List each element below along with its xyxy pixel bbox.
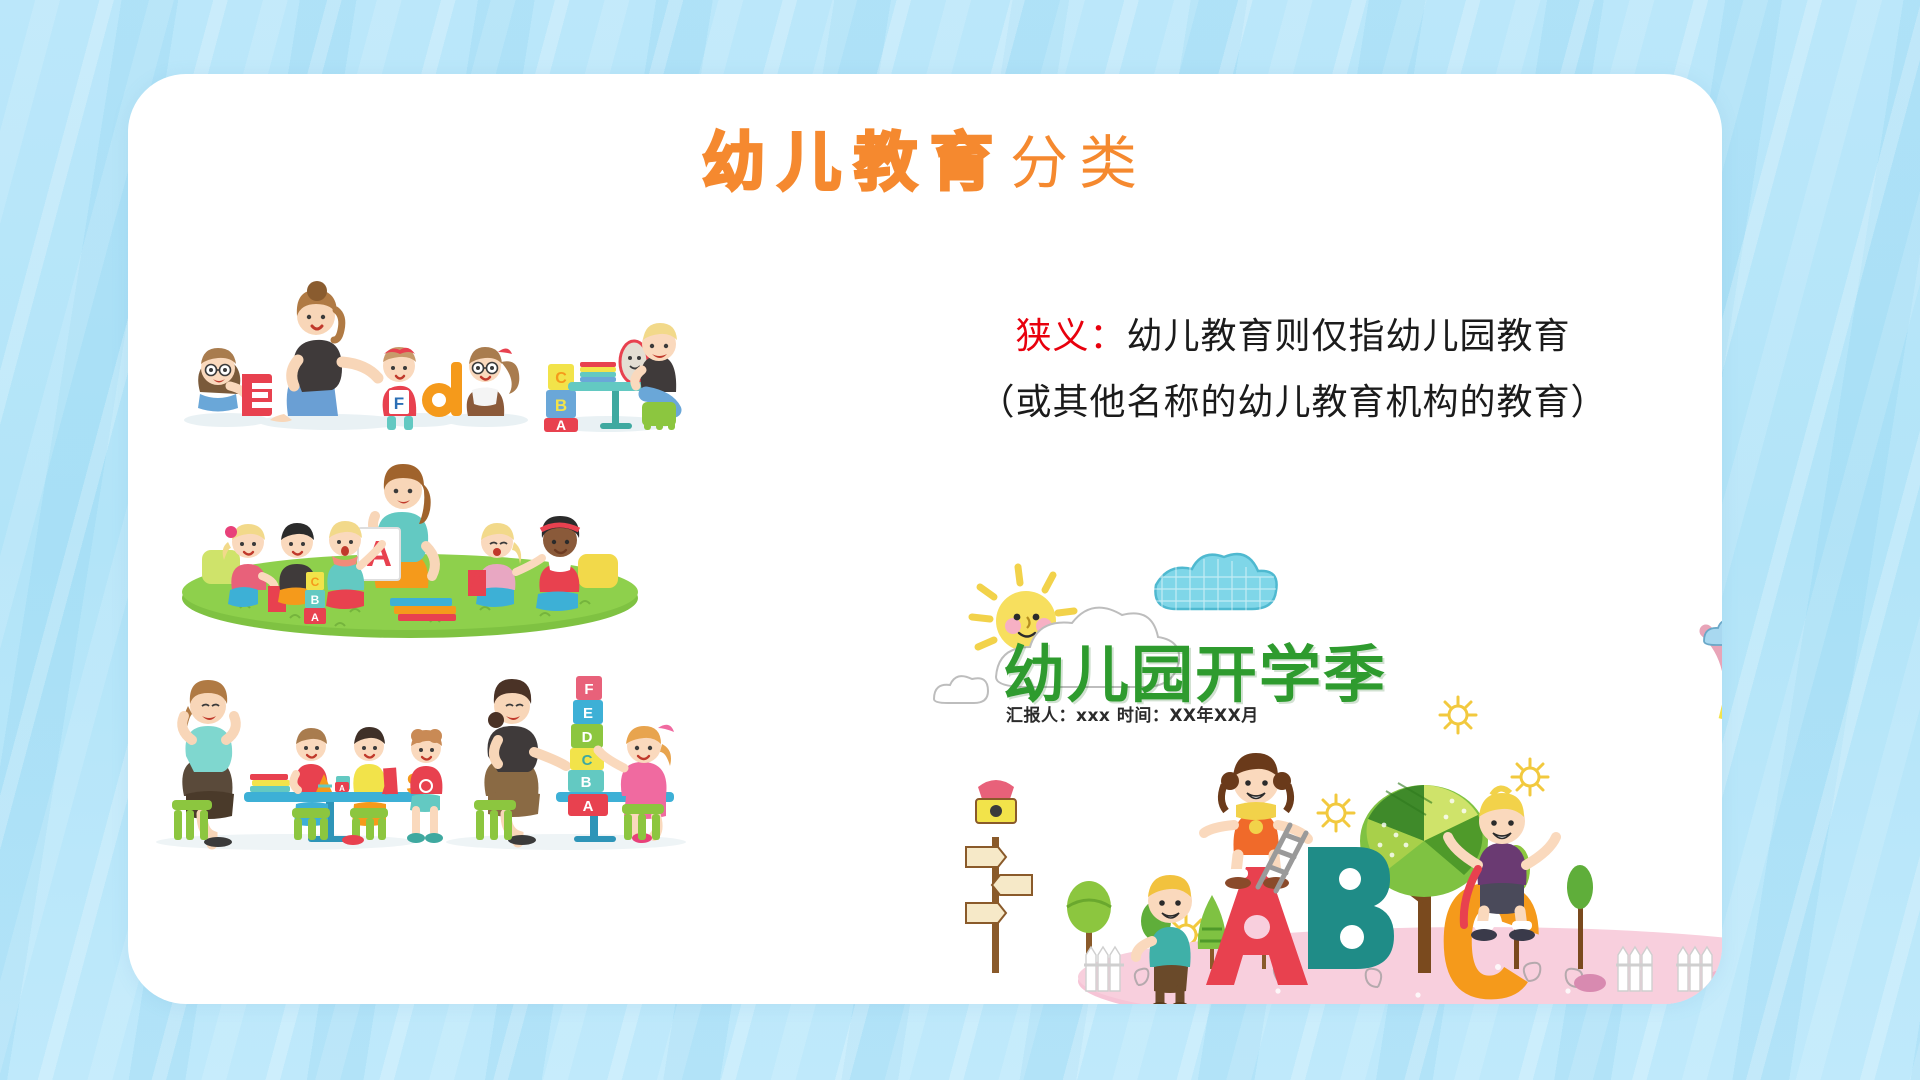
- svg-text:A: A: [311, 612, 319, 624]
- cloud-white-small: [934, 676, 988, 703]
- svg-text:A: A: [556, 417, 566, 433]
- teacher-with-A-card: A: [358, 464, 435, 588]
- cloud-blue: [1154, 554, 1277, 613]
- child-right-girl: [598, 725, 674, 843]
- tree-patchwork-trunk: [1704, 576, 1722, 965]
- rug-blocks: C B A: [304, 572, 326, 624]
- sun-small-2: [1512, 759, 1548, 795]
- poster-subtitle: 汇报人：xxx 时间：XX年XX月: [1006, 701, 1259, 726]
- title-heavy-part: 幼儿教育: [702, 126, 1006, 199]
- definition-line-1-text: 幼儿教育则仅指幼儿园教育: [1127, 316, 1571, 357]
- svg-text:A: A: [339, 784, 345, 793]
- letter-E: [242, 374, 274, 416]
- sun-small-1: [1318, 795, 1354, 831]
- svg-text:F: F: [394, 394, 404, 413]
- teacher-right: [474, 679, 566, 845]
- svg-text:B: B: [311, 593, 320, 607]
- definition-line-1: 狭义：幼儿教育则仅指幼儿园教育: [888, 304, 1698, 370]
- svg-text:C: C: [311, 575, 320, 589]
- cloud-on-branch-1: [1704, 620, 1722, 645]
- definition-text-block: 狭义：幼儿教育则仅指幼儿园教育 （或其他名称的幼儿教育机构的教育）: [888, 304, 1698, 436]
- teacher-kneeling: [270, 281, 378, 422]
- svg-text:B: B: [555, 396, 567, 415]
- vanity-table-scene: [568, 323, 677, 430]
- picket-fence-left: [1084, 947, 1124, 991]
- svg-text:C: C: [582, 752, 593, 769]
- page-title: 幼儿教育分类: [128, 112, 1722, 203]
- block-tower-fedcba: F E D C B: [566, 676, 604, 792]
- svg-text:C: C: [555, 370, 567, 387]
- sun-small-4: [1440, 697, 1476, 733]
- letter-d: [422, 362, 462, 417]
- svg-text:D: D: [582, 729, 593, 746]
- table-books: [250, 774, 290, 792]
- svg-text:A: A: [583, 798, 594, 815]
- illustration-classroom-tables: A S: [156, 644, 696, 854]
- rug-books: [390, 598, 456, 621]
- content-card: 幼儿教育分类 狭义：幼儿教育则仅指幼儿园教育 （或其他名称的幼儿教育机构的教育）: [128, 74, 1722, 1004]
- illustration-circle-time: A: [180, 446, 640, 641]
- signpost: [966, 780, 1032, 973]
- child-girl-glasses: [467, 347, 520, 416]
- definition-label: 狭义：: [1015, 316, 1126, 357]
- child-boy-with-E: [198, 348, 248, 412]
- block-tower-letter-a: A: [566, 792, 610, 818]
- child-left-c: [407, 729, 443, 843]
- teacher-left: [172, 680, 236, 847]
- svg-text:E: E: [583, 705, 593, 722]
- illustration-kindergarten-poster: 幼儿园开学季 汇报人：xxx 时间：XX年XX月: [918, 529, 1722, 1004]
- svg-text:F: F: [584, 681, 593, 698]
- illustration-teacher-toddlers: F: [156, 244, 676, 434]
- definition-line-2: （或其他名称的幼儿教育机构的教育）: [888, 370, 1698, 436]
- title-light-part: 分类: [1010, 129, 1148, 197]
- letter-B-big: [1308, 847, 1394, 969]
- abc-block-stack: C B A: [544, 364, 578, 433]
